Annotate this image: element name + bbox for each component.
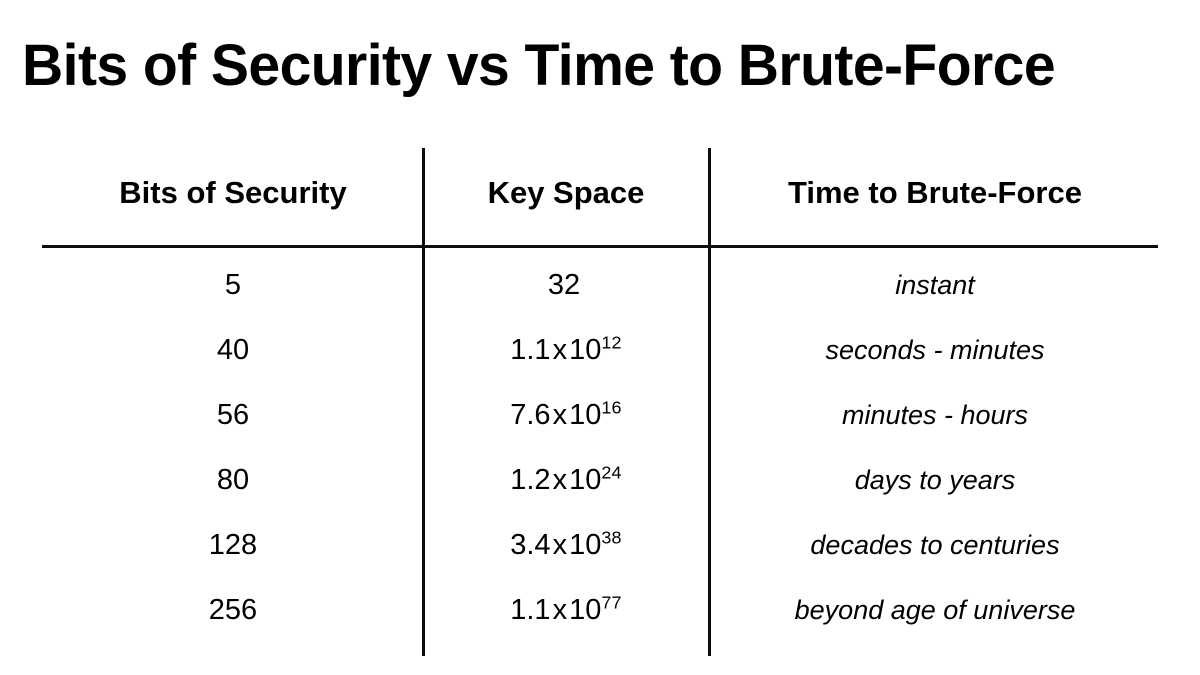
cell-time-to-brute-force: days to years — [716, 459, 1154, 501]
key-space-base: 10 — [569, 464, 601, 496]
key-space-multiplier: x — [551, 594, 570, 626]
header-rule — [42, 245, 1158, 248]
page-title: Bits of Security vs Time to Brute-Force — [22, 32, 1165, 102]
table-row: 80 1.2x1024 days to years — [0, 459, 1200, 501]
cell-time-to-brute-force: instant — [716, 264, 1154, 306]
key-space-exponent: 12 — [601, 332, 621, 352]
key-space-mantissa: 3.4 — [510, 529, 550, 561]
cell-key-space: 32 — [430, 264, 702, 306]
key-space-mantissa: 7.6 — [510, 399, 550, 431]
cell-bits-of-security: 128 — [50, 524, 416, 566]
key-space-mantissa: 32 — [548, 269, 580, 301]
key-space-base: 10 — [569, 399, 601, 431]
key-space-multiplier — [580, 269, 584, 301]
cell-bits-of-security: 80 — [50, 459, 416, 501]
cell-bits-of-security: 256 — [50, 589, 416, 631]
key-space-multiplier: x — [551, 399, 570, 431]
cell-key-space: 1.1x1012 — [430, 329, 702, 371]
cell-key-space: 7.6x1016 — [430, 394, 702, 436]
key-space-multiplier: x — [551, 334, 570, 366]
cell-bits-of-security: 5 — [50, 264, 416, 306]
cell-time-to-brute-force: minutes - hours — [716, 394, 1154, 436]
key-space-base: 10 — [569, 334, 601, 366]
cell-time-to-brute-force: beyond age of universe — [716, 589, 1154, 631]
table-row: 56 7.6x1016 minutes - hours — [0, 394, 1200, 436]
cell-key-space: 1.2x1024 — [430, 459, 702, 501]
table-row: 128 3.4x1038 decades to centuries — [0, 524, 1200, 566]
cell-time-to-brute-force: seconds - minutes — [716, 329, 1154, 371]
cell-bits-of-security: 40 — [50, 329, 416, 371]
slide-canvas: Bits of Security vs Time to Brute-Force … — [0, 0, 1200, 675]
table-row: 40 1.1x1012 seconds - minutes — [0, 329, 1200, 371]
key-space-base: 10 — [569, 594, 601, 626]
key-space-base: 10 — [569, 529, 601, 561]
key-space-mantissa: 1.2 — [510, 464, 550, 496]
key-space-exponent: 38 — [601, 527, 621, 547]
key-space-mantissa: 1.1 — [510, 594, 550, 626]
cell-bits-of-security: 56 — [50, 394, 416, 436]
key-space-mantissa: 1.1 — [510, 334, 550, 366]
column-header-time-to-brute-force: Time to Brute-Force — [716, 170, 1154, 216]
cell-time-to-brute-force: decades to centuries — [716, 524, 1154, 566]
key-space-exponent: 77 — [601, 592, 621, 612]
cell-key-space: 1.1x1077 — [430, 589, 702, 631]
key-space-multiplier: x — [551, 464, 570, 496]
column-header-key-space: Key Space — [430, 170, 702, 216]
table-row: 5 32 instant — [0, 264, 1200, 306]
key-space-multiplier: x — [551, 529, 570, 561]
key-space-exponent: 16 — [601, 397, 621, 417]
key-space-exponent: 24 — [601, 462, 621, 482]
table-row: 256 1.1x1077 beyond age of universe — [0, 589, 1200, 631]
cell-key-space: 3.4x1038 — [430, 524, 702, 566]
column-header-bits-of-security: Bits of Security — [50, 170, 416, 216]
